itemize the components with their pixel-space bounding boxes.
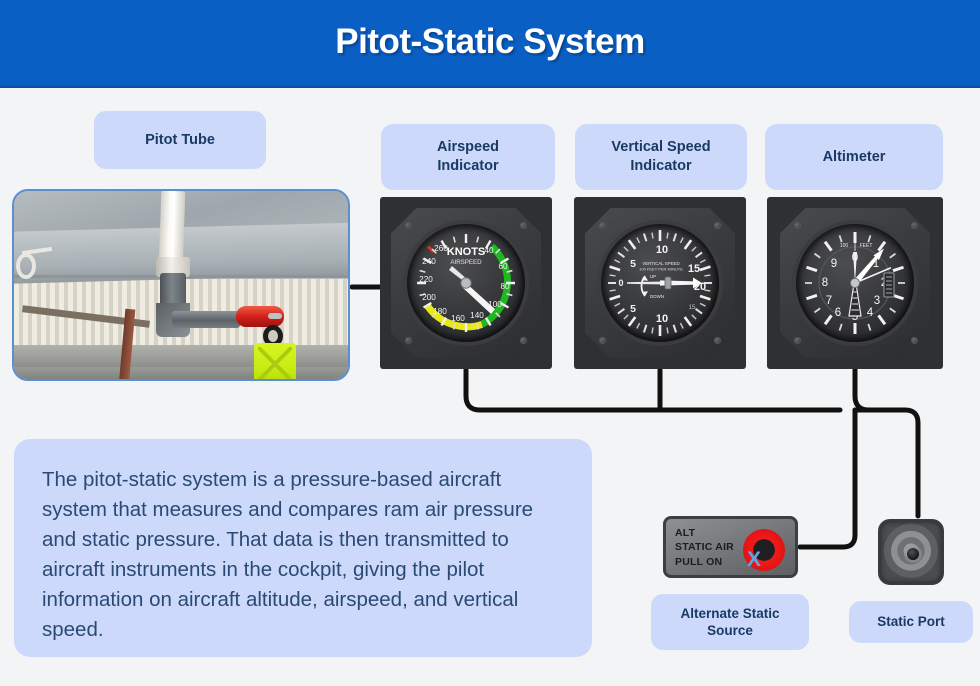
photo-flag-x-pattern [258, 347, 292, 381]
photo-tiedown-hook [16, 253, 36, 279]
vsi-tick-10-down: 10 [656, 313, 668, 325]
page-title: Pitot-Static System [0, 22, 980, 62]
altimeter-needle-tail [849, 286, 861, 316]
altimeter-unit-hundreds: 100 [840, 243, 849, 249]
vsi-tick-5-down: 5 [630, 303, 636, 315]
label-vertical-speed-indicator-text: Vertical Speed Indicator [611, 138, 710, 175]
altimeter-needle-hub [850, 278, 859, 287]
photo-floor [14, 367, 348, 381]
label-altimeter-text: Altimeter [823, 148, 886, 167]
asi-tick-40: 40 [484, 246, 494, 255]
static-port-hole-icon [907, 548, 919, 560]
label-altimeter[interactable]: Altimeter [765, 124, 943, 190]
asi-tick-60: 60 [498, 262, 508, 271]
pipe-altimeter-drop [855, 370, 869, 410]
vsi-down-label: DOWN [650, 294, 664, 299]
altimeter-tick-8: 8 [822, 277, 828, 289]
vsi-tick-15-down: 15 [689, 305, 696, 311]
label-alternate-static-source-text: Alternate Static Source [680, 605, 779, 640]
vsi-dial-face: 10 15 20 10 5 5 0 15 VERTICAL SPEED 100 … [601, 224, 719, 342]
description-text: The pitot-static system is a pressure-ba… [42, 465, 564, 645]
alternate-static-source-control[interactable]: ALT STATIC AIR PULL ON X [663, 516, 798, 578]
altimeter-tick-7: 7 [826, 295, 832, 307]
vsi-face-subtitle: 100 FEET PER MINUTE [639, 267, 683, 272]
vsi-tick-10-up: 10 [656, 244, 668, 256]
pipe-bus-to-static-port [855, 410, 918, 516]
label-airspeed-indicator[interactable]: Airspeed Indicator [381, 124, 555, 190]
vertical-speed-indicator[interactable]: 10 15 20 10 5 5 0 15 VERTICAL SPEED 100 … [574, 197, 746, 369]
altimeter-unit-feet: FEET [860, 243, 873, 249]
infographic-canvas: Pitot-Static System Pitot Tube [0, 0, 980, 686]
alt-static-knob-ring[interactable]: X [743, 529, 785, 571]
vsi-tick-15-up: 15 [688, 263, 700, 275]
asi-face-title: KNOTS [447, 246, 486, 258]
label-pitot-tube[interactable]: Pitot Tube [94, 111, 266, 169]
asi-needle [449, 266, 495, 314]
asi-tick-180: 180 [433, 307, 447, 316]
asi-tick-240: 240 [422, 257, 436, 266]
asi-tick-220: 220 [419, 275, 433, 284]
label-alternate-static-source[interactable]: Alternate Static Source [651, 594, 809, 650]
airspeed-indicator[interactable]: 40 60 80 100 140 160 180 200 220 240 260… [380, 197, 552, 369]
photo-cover-pin [268, 313, 282, 319]
asi-tick-160: 160 [451, 314, 465, 323]
asi-tick-80: 80 [500, 282, 510, 291]
asi-tick-140: 140 [470, 311, 484, 320]
vsi-tick-5-up: 5 [630, 258, 636, 270]
label-vertical-speed-indicator[interactable]: Vertical Speed Indicator [575, 124, 747, 190]
description-panel: The pitot-static system is a pressure-ba… [14, 439, 592, 657]
x-icon: X [742, 548, 766, 572]
label-static-port[interactable]: Static Port [849, 601, 973, 643]
label-pitot-tube-text: Pitot Tube [145, 131, 215, 150]
static-port[interactable] [878, 519, 944, 585]
altimeter-tick-4: 4 [867, 307, 874, 319]
altimeter-tick-6: 6 [835, 307, 841, 319]
vsi-needle [627, 278, 702, 289]
label-static-port-text: Static Port [877, 613, 945, 630]
asi-dial-face: 40 60 80 100 140 160 180 200 220 240 260… [407, 224, 525, 342]
altimeter[interactable]: 100 FEET 0 1 2 3 4 5 6 7 8 9 [767, 197, 943, 369]
pitot-tube-photo [12, 189, 350, 381]
asi-face-subtitle: AIRSPEED [450, 259, 482, 266]
asi-tick-200: 200 [422, 293, 436, 302]
photo-pitot-tube-body [172, 311, 240, 328]
pipe-asi-bus [466, 370, 840, 410]
alt-static-placard: ALT STATIC AIR PULL ON [675, 526, 734, 569]
vsi-face-title: VERTICAL SPEED [642, 261, 679, 266]
altimeter-dial-face: 100 FEET 0 1 2 3 4 5 6 7 8 9 [796, 224, 914, 342]
vsi-up-label: UP [650, 274, 656, 279]
page-header: Pitot-Static System [0, 0, 980, 88]
pipe-bus-to-alt-static [800, 410, 855, 547]
vsi-needle-hub [665, 277, 671, 289]
altimeter-tick-9: 9 [831, 258, 837, 270]
asi-needle-hub [461, 278, 471, 288]
vsi-tick-0: 0 [618, 278, 623, 288]
photo-wall-base [14, 345, 348, 367]
altimeter-tick-3: 3 [874, 295, 880, 307]
label-airspeed-indicator-text: Airspeed Indicator [437, 138, 499, 175]
